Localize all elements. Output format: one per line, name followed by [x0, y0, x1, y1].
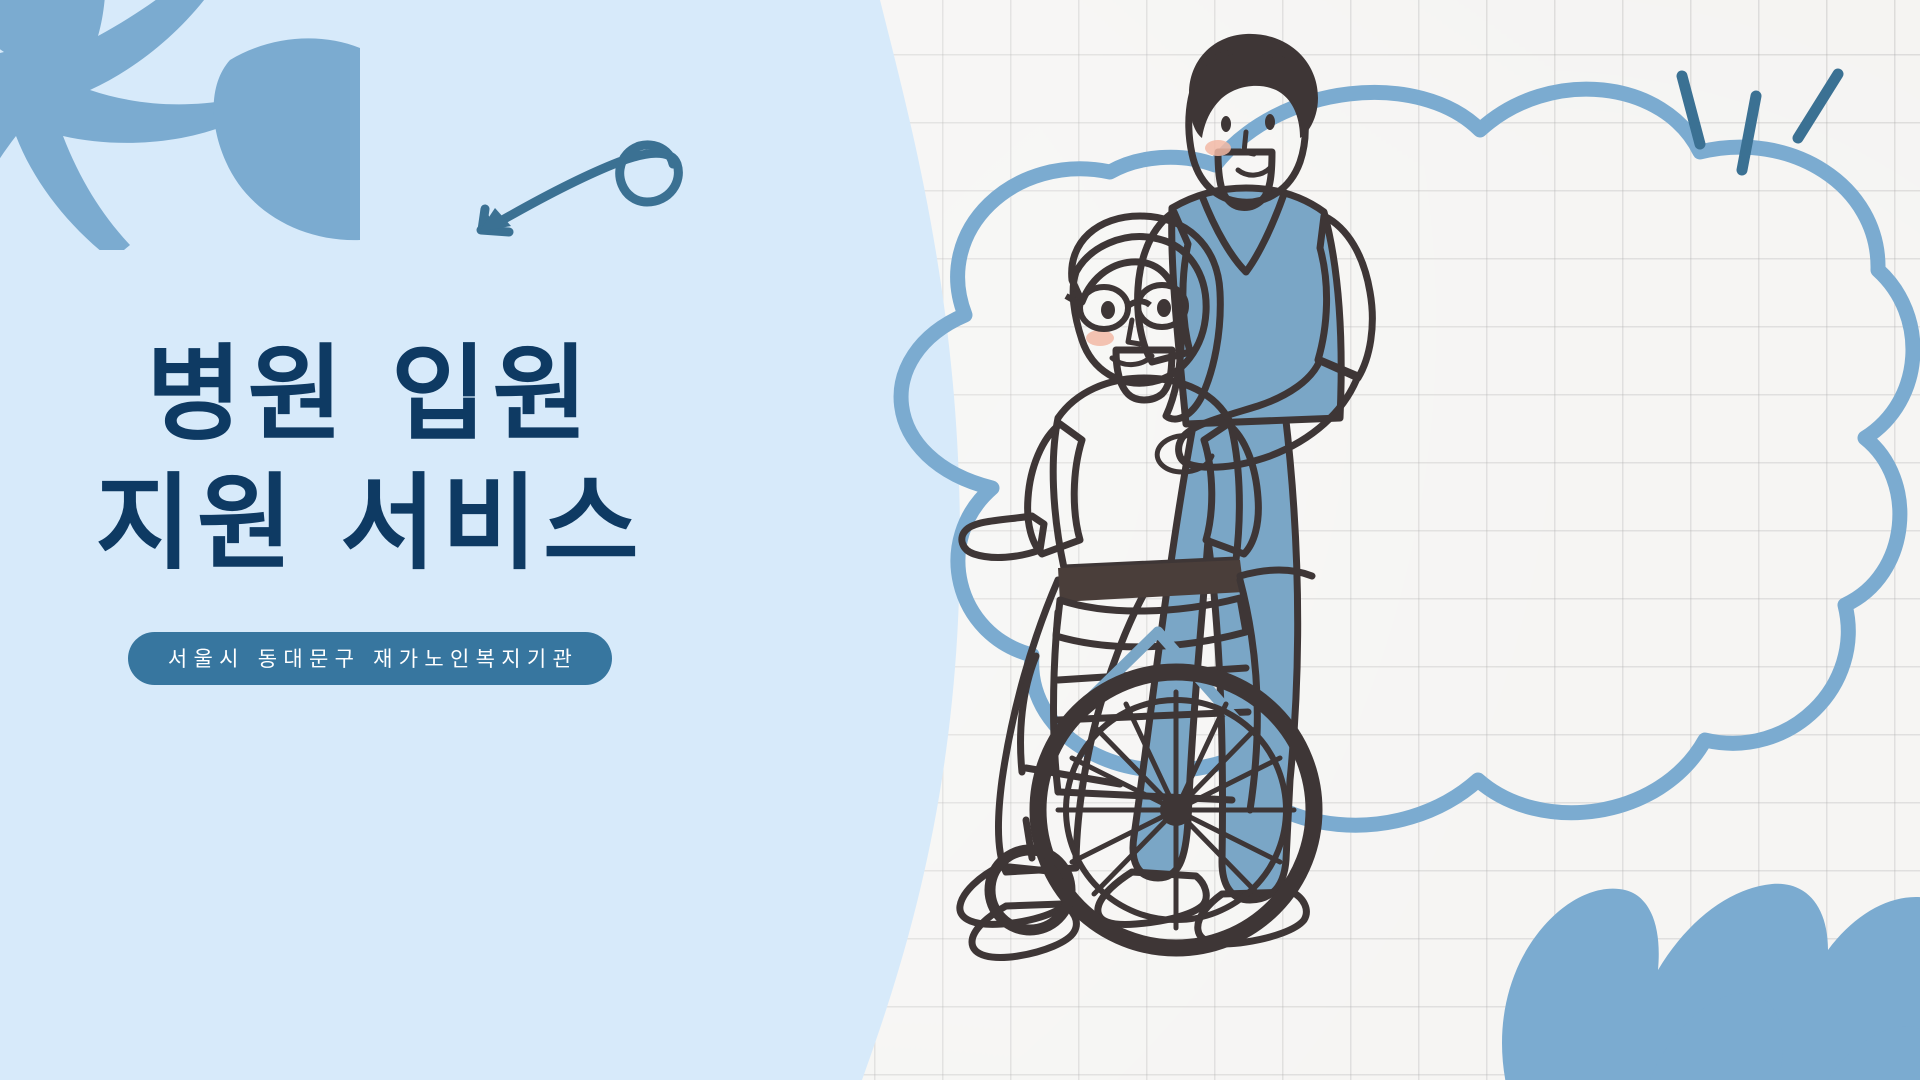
poster-canvas: .ink{fill:none;stroke:#3E3636;stroke-wid…: [0, 0, 1920, 1080]
text-block: 병원 입원 지원 서비스 서울시 동대문구 재가노인복지기관: [0, 330, 740, 685]
curly-arrow-icon: [455, 130, 705, 250]
badge-wrapper: 서울시 동대문구 재가노인복지기관: [0, 632, 740, 685]
leaf-decoration-top-left: [0, 0, 360, 250]
page-title-line-2: 지원 서비스: [0, 459, 740, 588]
organization-badge: 서울시 동대문구 재가노인복지기관: [128, 632, 612, 685]
page-title-line-1: 병원 입원: [0, 330, 740, 459]
caregiver-pushing-wheelchair-illustration: .ink{fill:none;stroke:#3E3636;stroke-wid…: [940, 20, 1700, 1050]
